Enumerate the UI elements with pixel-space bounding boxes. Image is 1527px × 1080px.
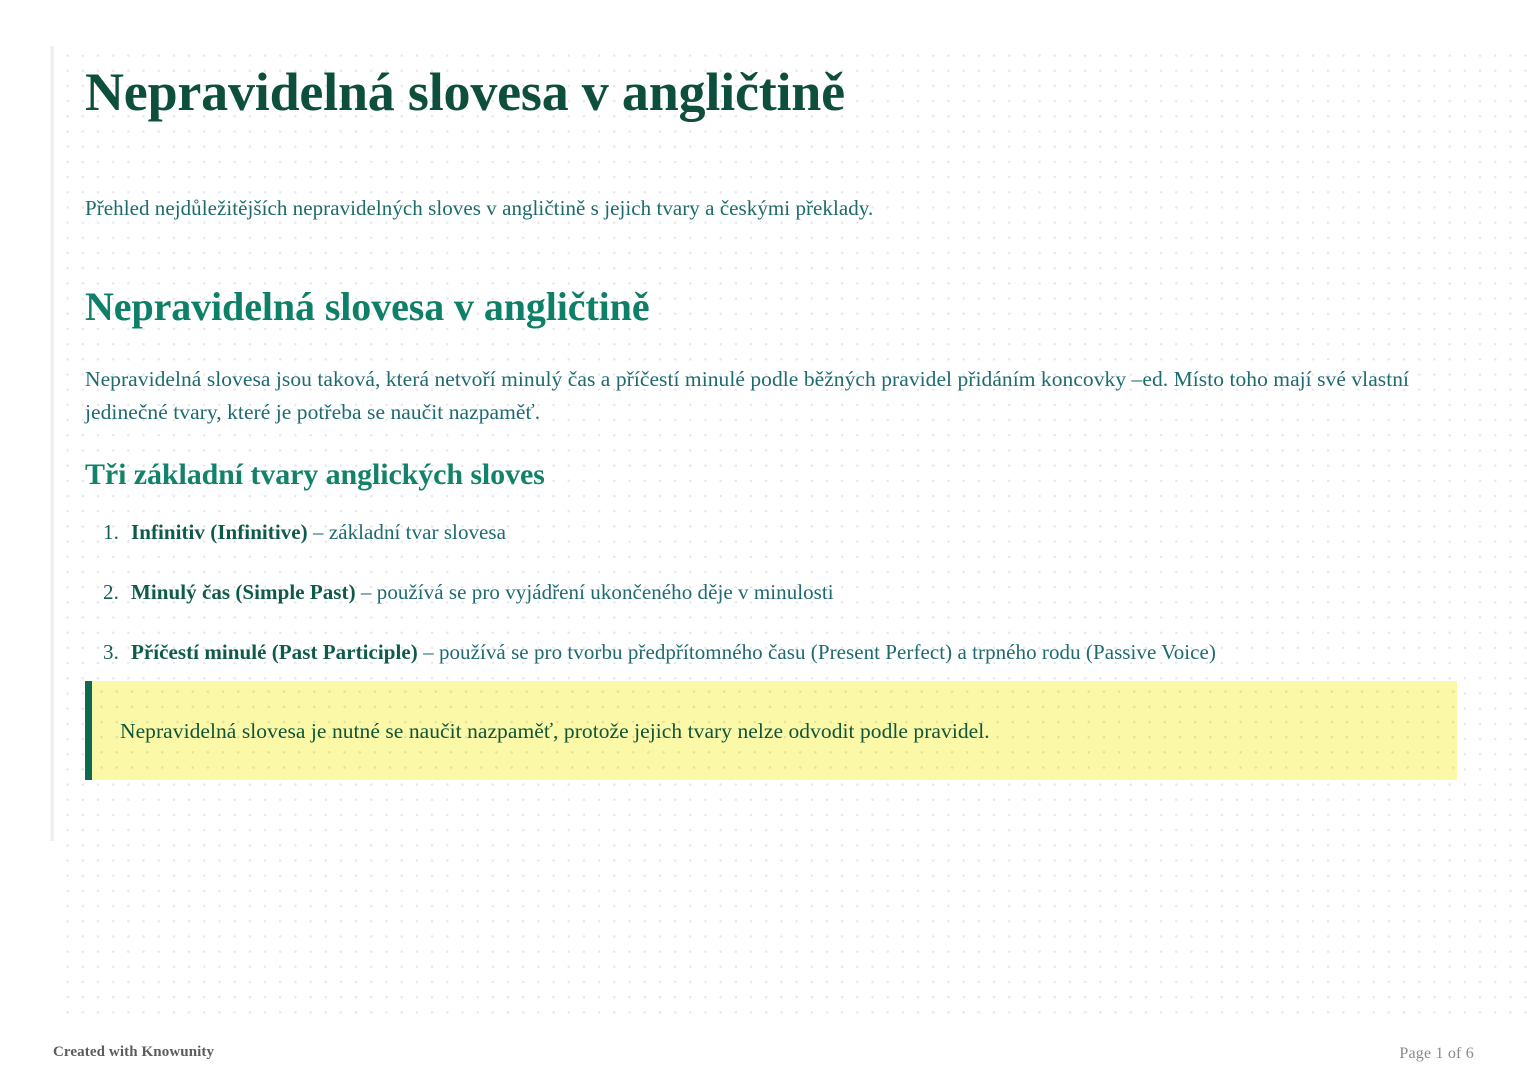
document-page: Nepravidelná slovesa v angličtině Přehle… [0,0,1527,1080]
list-item: Příčestí minulé (Past Participle) – použ… [103,636,1463,668]
list-item-lead: Minulý čas (Simple Past) [131,580,356,604]
list-item-rest: – používá se pro vyjádření ukončeného dě… [356,580,834,604]
section-subheading: Tři základní tvary anglických sloves [85,455,545,495]
verb-forms-list: Infinitiv (Infinitive) – základní tvar s… [103,516,1463,696]
list-item: Minulý čas (Simple Past) – používá se pr… [103,576,1463,608]
section-heading: Nepravidelná slovesa v angličtině [85,283,649,331]
highlight-callout: Nepravidelná slovesa je nutné se naučit … [85,681,1457,780]
document-lede: Přehled nejdůležitějších nepravidelných … [85,192,1457,224]
section-paragraph: Nepravidelná slovesa jsou taková, která … [85,363,1459,429]
footer-credit: Created with Knowunity [53,1044,214,1061]
footer-pagination: Page 1 of 6 [1399,1045,1474,1063]
page-title: Nepravidelná slovesa v angličtině [85,60,845,124]
list-item-rest: – základní tvar slovesa [308,520,506,544]
list-item-lead: Infinitiv (Infinitive) [131,520,308,544]
list-item: Infinitiv (Infinitive) – základní tvar s… [103,516,1463,548]
left-margin-rule [50,46,54,841]
list-item-lead: Příčestí minulé (Past Participle) [131,640,418,664]
callout-text: Nepravidelná slovesa je nutné se naučit … [92,715,1014,747]
list-item-rest: – používá se pro tvorbu předpřítomného č… [418,640,1216,664]
